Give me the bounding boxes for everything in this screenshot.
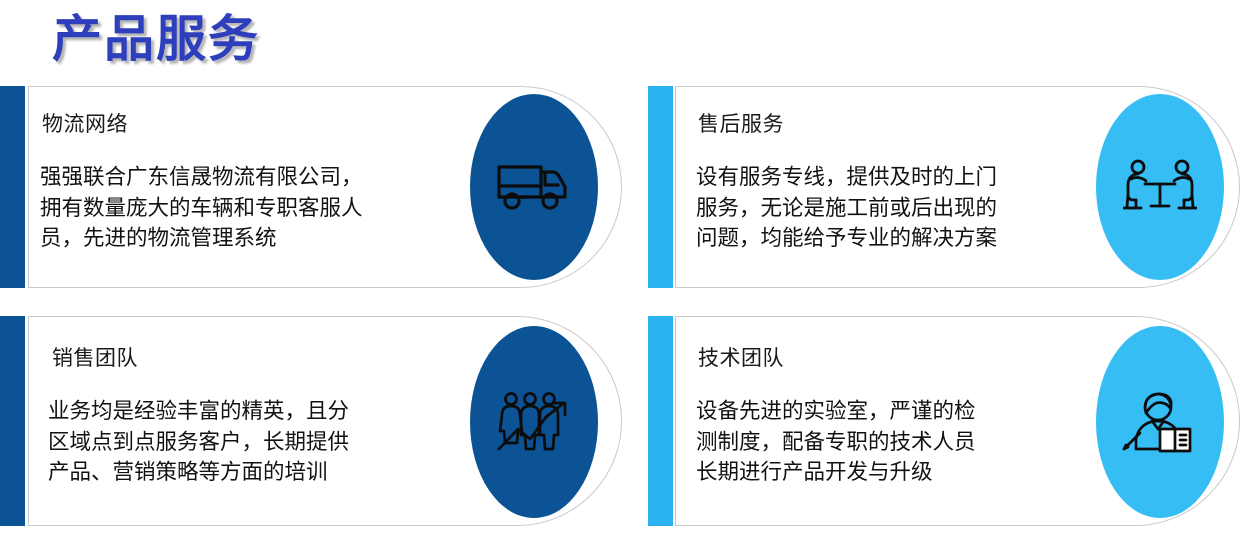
card-tech[interactable]: 技术团队 设备先进的实验室，严谨的检 测制度，配备专职的技术人员 长期进行产品开…: [648, 316, 1240, 526]
card-icon-badge: [1096, 326, 1224, 518]
card-description-line: 服务，无论是施工前或后出现的: [696, 193, 1098, 224]
card-description: 设有服务专线，提供及时的上门 服务，无论是施工前或后出现的 问题，均能给予专业的…: [696, 162, 1098, 254]
card-description-line: 设有服务专线，提供及时的上门: [696, 162, 1098, 193]
delivery-truck-icon: [495, 160, 573, 214]
team-growth-chart-icon: [496, 391, 572, 453]
card-sales[interactable]: 销售团队 业务均是经验丰富的精英，且分 区域点到点服务客户，长期提供 产品、营销…: [0, 316, 622, 526]
card-description-line: 强强联合广东信晟物流有限公司，: [40, 162, 460, 193]
card-description-line: 长期进行产品开发与升级: [696, 457, 1098, 488]
card-description-line: 拥有数量庞大的车辆和专职客服人: [40, 193, 460, 224]
card-description-line: 问题，均能给予专业的解决方案: [696, 223, 1098, 254]
card-icon-badge: [470, 94, 598, 280]
card-icon-badge: [470, 326, 598, 518]
card-accent-bar: [0, 86, 25, 288]
card-icon-badge: [1096, 94, 1224, 280]
card-description: 业务均是经验丰富的精英，且分 区域点到点服务客户，长期提供 产品、营销策略等方面…: [48, 396, 468, 488]
card-heading: 销售团队: [52, 342, 138, 372]
card-heading: 售后服务: [698, 108, 784, 138]
card-accent-bar: [648, 316, 673, 526]
card-description-line: 区域点到点服务客户，长期提供: [48, 427, 468, 458]
instructor-with-book-icon: [1122, 391, 1198, 453]
card-description: 设备先进的实验室，严谨的检 测制度，配备专职的技术人员 长期进行产品开发与升级: [696, 396, 1098, 488]
card-heading: 物流网络: [42, 108, 128, 138]
card-description-line: 测制度，配备专职的技术人员: [696, 427, 1098, 458]
card-heading: 技术团队: [698, 342, 784, 372]
page-title: 产品服务: [52, 13, 260, 66]
two-people-at-table-icon: [1123, 158, 1197, 216]
card-description-line: 业务均是经验丰富的精英，且分: [48, 396, 468, 427]
card-description: 强强联合广东信晟物流有限公司， 拥有数量庞大的车辆和专职客服人 员，先进的物流管…: [40, 162, 460, 254]
card-description-line: 员，先进的物流管理系统: [40, 223, 460, 254]
card-description-line: 产品、营销策略等方面的培训: [48, 457, 468, 488]
card-description-line: 设备先进的实验室，严谨的检: [696, 396, 1098, 427]
card-accent-bar: [648, 86, 673, 288]
card-accent-bar: [0, 316, 25, 526]
card-aftersale[interactable]: 售后服务 设有服务专线，提供及时的上门 服务，无论是施工前或后出现的 问题，均能…: [648, 86, 1240, 288]
card-logistics[interactable]: 物流网络 强强联合广东信晟物流有限公司， 拥有数量庞大的车辆和专职客服人 员，先…: [0, 86, 622, 288]
